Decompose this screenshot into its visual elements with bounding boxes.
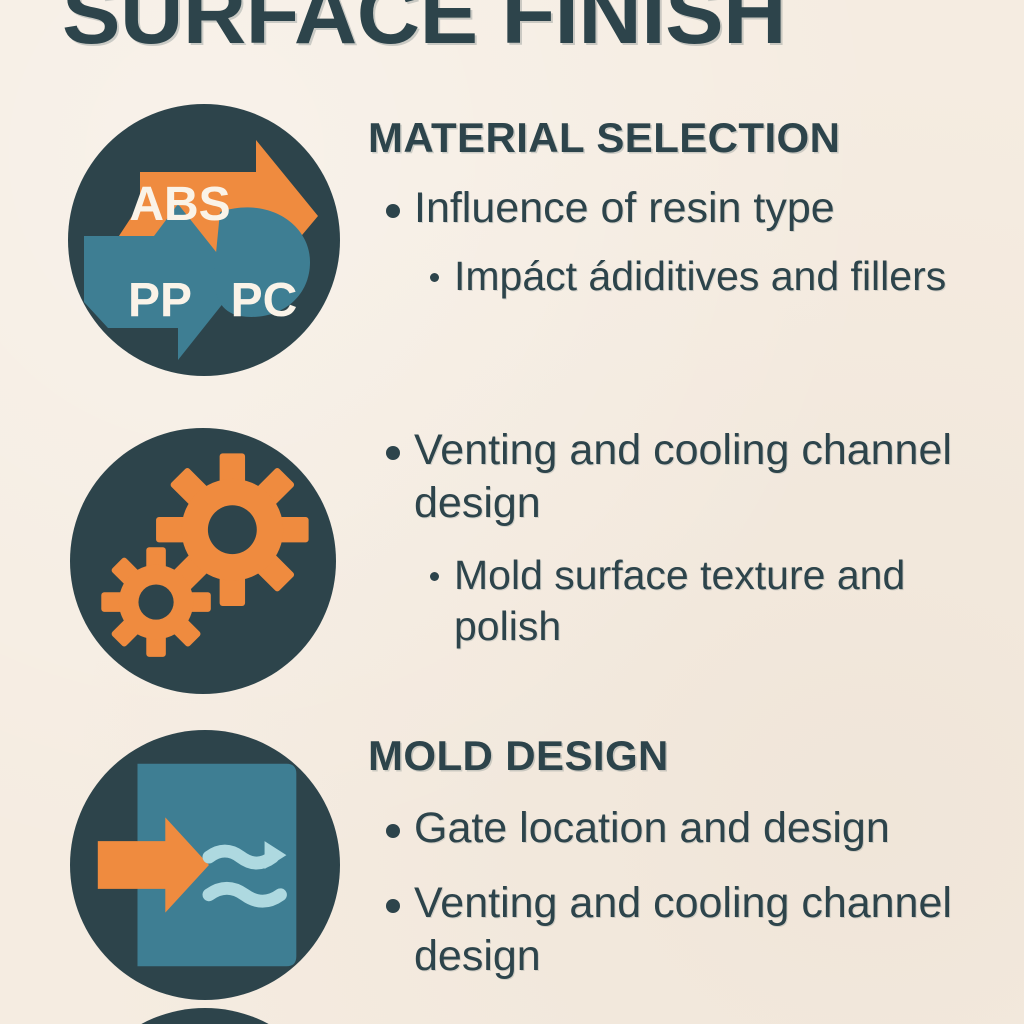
section-partial-next: [0, 1008, 1024, 1024]
list-item: Venting and cooling channel design: [368, 424, 1016, 530]
injection-mold-flow-icon: [70, 730, 340, 1000]
gears-icon: [70, 428, 336, 694]
section-mold-design: MOLD DESIGN Gate location and design Ven…: [0, 726, 1024, 1016]
list-item: Mold surface texture and polish: [368, 550, 1016, 652]
infographic-poster: SURFACE FINISH ABS PP PC MATERIAL SELECT…: [0, 0, 1024, 1024]
injection-mold-flow-svg: [70, 730, 340, 1000]
icon-label-pp: PP: [128, 274, 192, 327]
list-item: Influence of resin type: [368, 182, 1016, 235]
recycle-resin-arrows-icon: ABS PP PC: [68, 104, 340, 376]
icon-label-pc: PC: [231, 274, 298, 327]
section-text-column: MOLD DESIGN Gate location and design Ven…: [368, 726, 1016, 1005]
section-text-column: Venting and cooling channel design Mold …: [368, 424, 1016, 672]
list-item: Impáct ádiditives and fillers: [368, 251, 1016, 302]
icon-label-abs: ABS: [129, 178, 230, 231]
partial-circle-icon: [70, 1008, 340, 1024]
gears-svg: [70, 428, 336, 694]
section-heading-material-selection: MATERIAL SELECTION: [368, 114, 1016, 162]
section-venting-cooling: Venting and cooling channel design Mold …: [0, 424, 1024, 714]
section-text-column: MATERIAL SELECTION Influence of resin ty…: [368, 104, 1016, 310]
bullet-list: Influence of resin type Impáct ádiditive…: [368, 182, 1016, 302]
bullet-list: Gate location and design Venting and coo…: [368, 802, 1016, 983]
page-title: SURFACE FINISH: [62, 0, 980, 62]
recycle-resin-arrows-svg: ABS PP PC: [68, 104, 340, 376]
section-material-selection: ABS PP PC MATERIAL SELECTION Influence o…: [0, 104, 1024, 404]
list-item: Venting and cooling channel design: [368, 877, 1016, 983]
list-item: Gate location and design: [368, 802, 1016, 855]
section-heading-mold-design: MOLD DESIGN: [368, 732, 1016, 780]
bullet-list: Venting and cooling channel design Mold …: [368, 424, 1016, 652]
